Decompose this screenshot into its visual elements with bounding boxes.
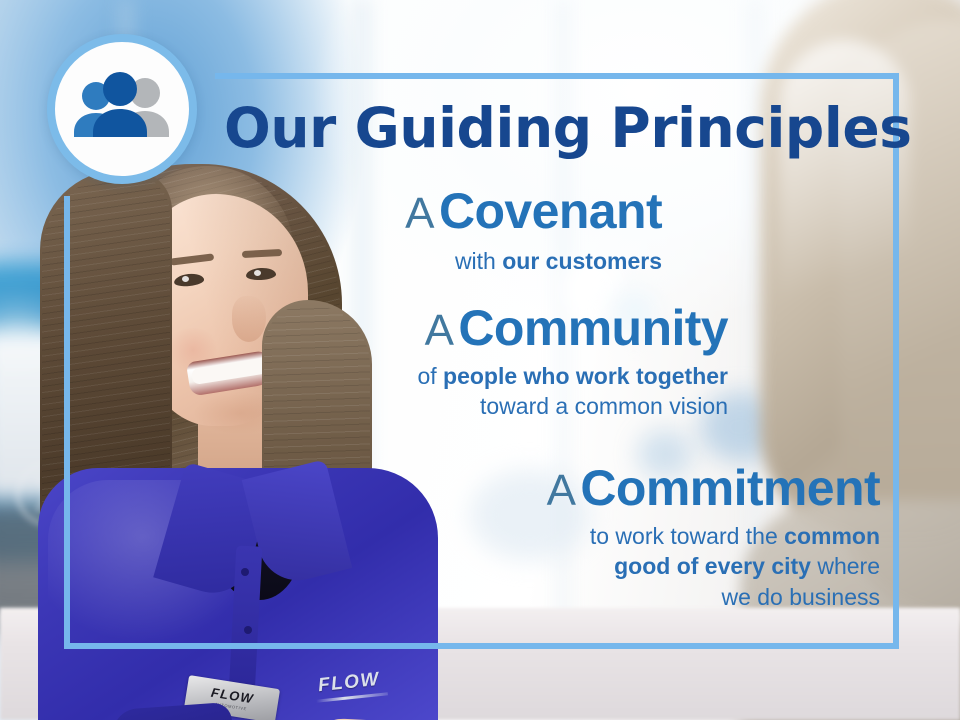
principle-keyword: Commitment xyxy=(580,460,880,516)
page-title: Our Guiding Principles xyxy=(224,96,912,160)
subtext-plain: with xyxy=(455,248,502,274)
subtext-bold: people who work together xyxy=(443,363,728,389)
principle-keyword: Covenant xyxy=(439,183,662,239)
group-of-people-icon xyxy=(70,71,174,147)
principle-keyword: Community xyxy=(458,300,728,356)
employee-nose xyxy=(232,296,266,342)
polo-button xyxy=(244,626,252,634)
frame-border-bottom xyxy=(64,643,899,649)
subtext-plain: of xyxy=(417,363,443,389)
principle-community: A Community of people who work together … xyxy=(417,303,728,422)
principle-heading: A Commitment xyxy=(547,463,880,514)
subtext-bold: common xyxy=(784,523,880,549)
subtext-line: we do business xyxy=(547,582,880,612)
principle-article: A xyxy=(425,306,454,355)
subtext-line: good of every city where xyxy=(547,551,880,581)
principle-heading: A Community xyxy=(417,303,728,354)
principle-covenant: A Covenant with our customers xyxy=(405,186,662,276)
guiding-principles-badge xyxy=(47,34,197,184)
subtext-line: of people who work together xyxy=(417,361,728,391)
employee-eye-highlight xyxy=(254,270,261,276)
subtext-line: to work toward the common xyxy=(547,521,880,551)
subtext-bold: good of every city xyxy=(614,553,811,579)
principle-heading: A Covenant xyxy=(405,186,662,237)
employee-teeth xyxy=(191,357,271,385)
principle-article: A xyxy=(547,466,576,515)
subtext-bold: our customers xyxy=(502,248,662,274)
banner-image: FLOW AUTOMOTIVE FLOW xyxy=(0,0,960,720)
polo-button xyxy=(241,568,249,576)
principle-article: A xyxy=(405,189,434,238)
subtext-plain: to work toward the xyxy=(590,523,784,549)
principle-commitment: A Commitment to work toward the common g… xyxy=(547,463,880,612)
subtext-line: toward a common vision xyxy=(417,391,728,421)
employee-eye-highlight xyxy=(182,276,189,282)
subtext-plain: where xyxy=(811,553,880,579)
frame-border-top xyxy=(215,73,899,79)
principle-subtext: with our customers xyxy=(405,246,662,276)
principle-subtext: of people who work together toward a com… xyxy=(417,361,728,422)
frame-border-left xyxy=(64,196,70,649)
principle-subtext: to work toward the common good of every … xyxy=(547,521,880,612)
customer-hair-highlight xyxy=(780,40,910,370)
